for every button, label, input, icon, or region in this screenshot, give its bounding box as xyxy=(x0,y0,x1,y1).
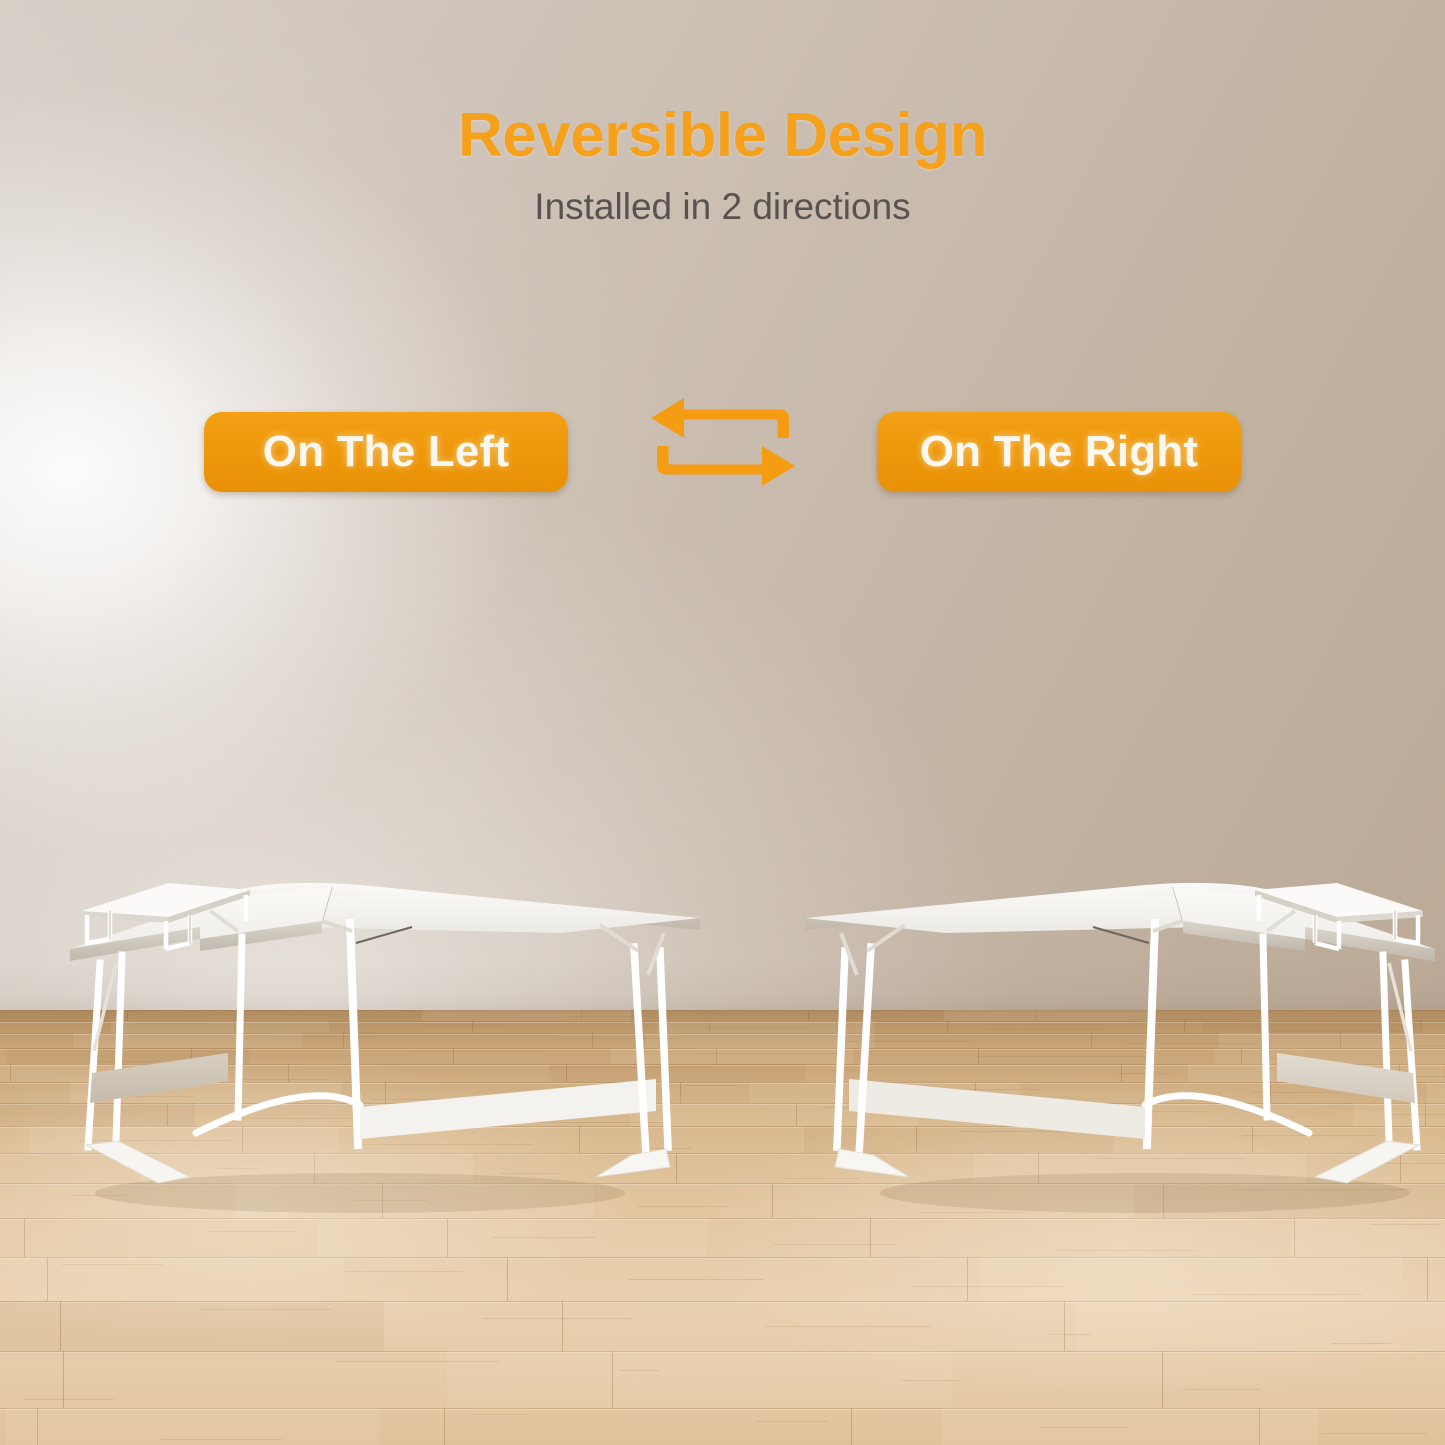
floor-grain xyxy=(628,1279,763,1280)
floor-plank-tint xyxy=(0,1257,344,1301)
product-infographic-scene: Reversible Design Installed in 2 directi… xyxy=(0,0,1445,1445)
floor-grain xyxy=(0,1012,40,1013)
floor-plank-seam xyxy=(444,1408,445,1445)
floor-plank-seam xyxy=(1064,1301,1065,1351)
floor-plank-seam xyxy=(967,1257,968,1301)
floor-grain xyxy=(23,1399,114,1400)
floor-grain xyxy=(1194,1294,1363,1295)
page-subtitle: Installed in 2 directions xyxy=(0,186,1445,228)
floor-grain xyxy=(765,1326,931,1327)
badge-right-label: On The Right xyxy=(920,427,1199,477)
desk-left-config xyxy=(60,855,720,1235)
swap-horizontal-arrows-icon xyxy=(648,396,798,488)
floor-plank-seam xyxy=(851,1408,852,1445)
floor-plank-tint xyxy=(447,1351,952,1408)
floor-grain xyxy=(345,1271,463,1272)
floor-grain xyxy=(1039,1427,1127,1428)
floor-grain xyxy=(911,1286,1063,1287)
floor-plank-seam xyxy=(507,1257,508,1301)
badge-on-the-right: On The Right xyxy=(877,412,1241,492)
page-title: Reversible Design xyxy=(0,100,1445,171)
floor-grain xyxy=(1048,1334,1091,1335)
floor-grain xyxy=(756,1421,827,1422)
floor-grain xyxy=(62,1264,163,1265)
floor-grain xyxy=(1331,1343,1391,1344)
floor-plank-seam xyxy=(772,1183,773,1217)
floor-grain xyxy=(199,1309,331,1310)
floor-grain xyxy=(1322,1433,1427,1434)
badge-on-the-left: On The Left xyxy=(204,412,568,492)
badge-left-label: On The Left xyxy=(263,427,510,477)
floor-grain xyxy=(1057,1250,1195,1251)
floor-grain xyxy=(336,1361,499,1362)
floor-plank-seam xyxy=(24,1218,25,1257)
floor-grain xyxy=(491,1237,595,1238)
floor-plank-seam xyxy=(1162,1351,1163,1408)
floor-plank-seam xyxy=(1427,1257,1428,1301)
floor-grain xyxy=(774,1244,895,1245)
floor-grain xyxy=(160,1439,282,1440)
floor-grain xyxy=(1185,1389,1259,1390)
floor-grain xyxy=(619,1370,659,1371)
floor-plank-seam xyxy=(562,1301,563,1351)
desk-right-config xyxy=(785,855,1445,1235)
floor-grain xyxy=(902,1380,959,1381)
floor-grain xyxy=(473,1414,527,1415)
floor-grain xyxy=(482,1318,631,1319)
floor-plank-tint xyxy=(942,1408,1317,1445)
